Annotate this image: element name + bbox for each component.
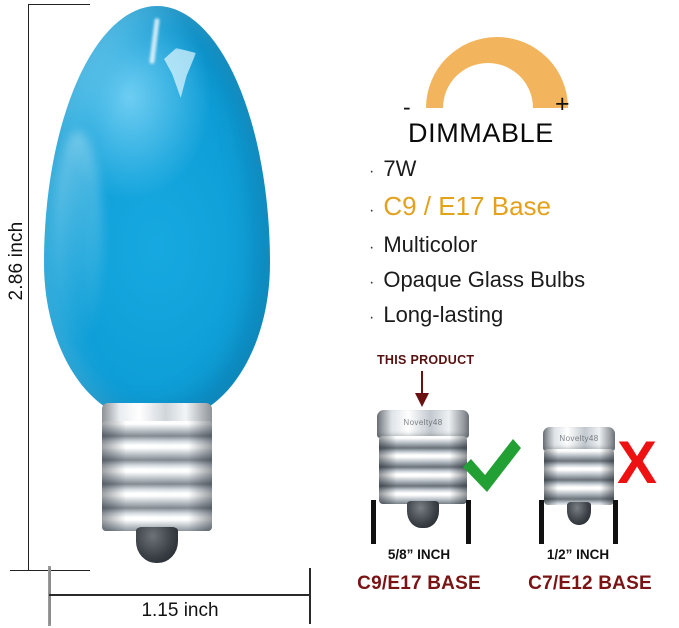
feature-list: · 7W · C9 / E17 Base · Multicolor · Opaq…	[369, 158, 679, 339]
socket-emboss-text: Novelty48	[388, 418, 458, 431]
socket-c7-e12: Novelty48	[543, 427, 615, 525]
dimension-height-cap-top	[28, 4, 90, 5]
socket-emboss-text: Novelty48	[552, 434, 607, 445]
dimension-height-label: 2.86 inch	[6, 211, 28, 311]
base-label-c7: C7/E12 BASE	[520, 573, 660, 595]
bullet-icon: ·	[369, 310, 374, 326]
check-icon	[461, 437, 523, 495]
socket-threads	[379, 436, 467, 504]
feature-label: 7W	[383, 158, 416, 180]
socket-c9-e17: Novelty48	[377, 410, 469, 528]
bulb-contact-tip	[136, 527, 178, 563]
feature-label: Long-lasting	[383, 304, 503, 326]
dimension-width-line	[49, 594, 311, 596]
bulb-glass	[44, 6, 270, 421]
bullet-icon: ·	[369, 164, 374, 180]
socket-threads	[544, 449, 613, 506]
feature-item-wattage: · 7W	[369, 158, 679, 180]
specs-column: - + DIMMABLE · 7W · C9 / E17 Base · Mult…	[355, 0, 679, 628]
callout-arrow-icon	[415, 393, 429, 407]
dimension-height-line	[28, 4, 29, 570]
feature-item-glass: · Opaque Glass Bulbs	[369, 269, 679, 291]
product-bulb-image	[44, 6, 270, 581]
base-label-c9: C9/E17 BASE	[349, 573, 489, 595]
dimmable-arc-icon	[420, 22, 575, 108]
measure-bar-left-c7	[539, 500, 544, 544]
size-label-c7: 1/2” INCH	[533, 547, 623, 562]
size-label-c9: 5/8” INCH	[363, 547, 475, 562]
dimmable-plus-label: +	[555, 92, 570, 117]
feature-item-lifespan: · Long-lasting	[369, 304, 679, 326]
feature-label: C9 / E17 Base	[383, 193, 551, 219]
feature-label: Opaque Glass Bulbs	[383, 269, 585, 291]
dimmable-title: DIMMABLE	[408, 118, 554, 149]
bullet-icon: ·	[369, 203, 374, 219]
dimension-width-label: 1.15 inch	[49, 600, 311, 622]
x-icon: X	[617, 433, 657, 493]
this-product-callout: THIS PRODUCT	[377, 353, 474, 367]
feature-item-color: · Multicolor	[369, 234, 679, 256]
infographic-canvas: 2.86 inch 1.15 inch - + DIMMABLE · 7W ·	[0, 0, 679, 628]
measure-bar-right-c9	[466, 500, 471, 544]
dimmable-minus-label: -	[403, 96, 411, 119]
feature-label: Multicolor	[383, 234, 477, 256]
bulb-screw-base	[102, 421, 212, 531]
socket-contact-tip	[407, 501, 438, 528]
base-comparison: THIS PRODUCT Novelty48 5/8” INCH C9/E17 …	[355, 345, 679, 628]
bullet-icon: ·	[369, 240, 374, 256]
socket-contact-tip	[567, 502, 591, 525]
bullet-icon: ·	[369, 275, 374, 291]
measure-bar-left-c9	[371, 500, 376, 544]
measure-bar-right-c7	[613, 500, 618, 544]
feature-item-base: · C9 / E17 Base	[369, 193, 679, 219]
